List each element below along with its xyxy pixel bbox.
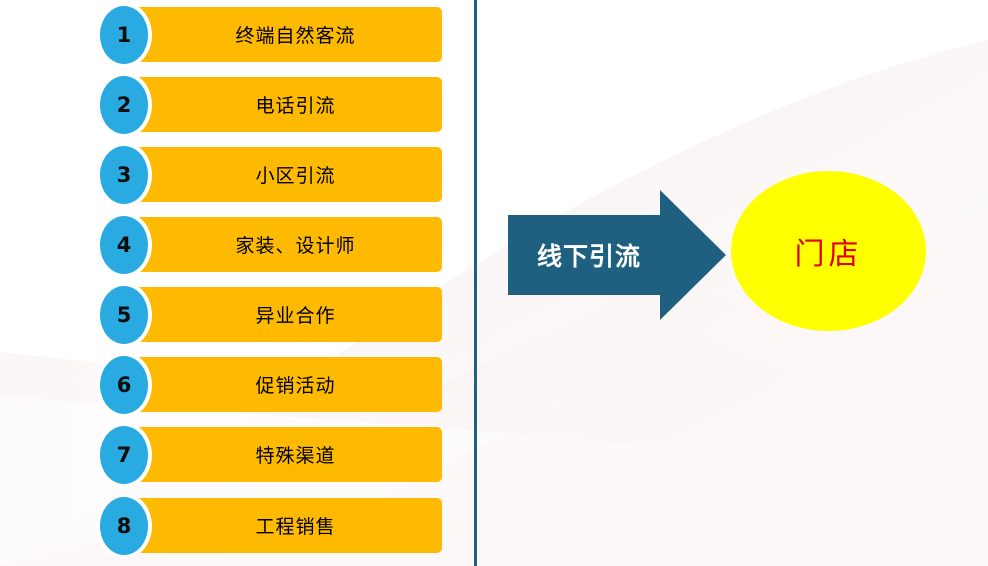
channel-number: 1 (117, 25, 132, 46)
channel-number-badge: 5 (100, 286, 148, 344)
channel-list: 终端自然客流 1 电话引流 2 小区引流 3 家装、设计师 (0, 0, 460, 566)
channel-bar[interactable]: 特殊渠道 (135, 427, 442, 482)
channel-bar[interactable]: 终端自然客流 (135, 7, 442, 62)
list-item[interactable]: 家装、设计师 4 (100, 216, 445, 274)
channel-label: 促销活动 (241, 371, 335, 398)
vertical-divider (474, 0, 477, 566)
channel-number-badge: 1 (100, 6, 148, 64)
channel-number: 2 (117, 95, 132, 116)
channel-number-badge: 2 (100, 76, 148, 134)
channel-number-badge: 7 (100, 426, 148, 484)
slide-canvas: 终端自然客流 1 电话引流 2 小区引流 3 家装、设计师 (0, 0, 988, 566)
channel-bar[interactable]: 小区引流 (135, 147, 442, 202)
channel-number: 5 (117, 305, 132, 326)
channel-label: 工程销售 (241, 512, 335, 539)
channel-label: 终端自然客流 (221, 21, 355, 48)
list-item[interactable]: 小区引流 3 (100, 146, 445, 204)
store-label: 门店 (795, 229, 863, 273)
channel-label: 特殊渠道 (241, 441, 335, 468)
channel-bar[interactable]: 家装、设计师 (135, 217, 442, 272)
channel-bar[interactable]: 工程销售 (135, 498, 442, 553)
channel-number-badge: 8 (100, 497, 148, 555)
channel-number: 4 (117, 235, 132, 256)
channel-label: 家装、设计师 (221, 231, 355, 258)
list-item[interactable]: 电话引流 2 (100, 76, 445, 134)
channel-number: 3 (117, 165, 132, 186)
channel-bar[interactable]: 促销活动 (135, 357, 442, 412)
channel-bar[interactable]: 电话引流 (135, 77, 442, 132)
channel-number-badge: 3 (100, 146, 148, 204)
channel-label: 小区引流 (241, 161, 335, 188)
list-item[interactable]: 终端自然客流 1 (100, 6, 445, 64)
channel-bar[interactable]: 异业合作 (135, 287, 442, 342)
list-item[interactable]: 工程销售 8 (100, 497, 445, 555)
channel-number: 7 (117, 445, 132, 466)
offline-traffic-arrow: 线下引流 (508, 190, 726, 320)
channel-number: 6 (117, 375, 132, 396)
channel-label: 电话引流 (241, 91, 335, 118)
store-node: 门店 (731, 171, 926, 331)
list-item[interactable]: 促销活动 6 (100, 356, 445, 414)
channel-number: 8 (117, 516, 132, 537)
list-item[interactable]: 特殊渠道 7 (100, 426, 445, 484)
channel-number-badge: 6 (100, 356, 148, 414)
arrow-label: 线下引流 (508, 190, 670, 320)
list-item[interactable]: 异业合作 5 (100, 286, 445, 344)
channel-label: 异业合作 (241, 301, 335, 328)
channel-number-badge: 4 (100, 216, 148, 274)
